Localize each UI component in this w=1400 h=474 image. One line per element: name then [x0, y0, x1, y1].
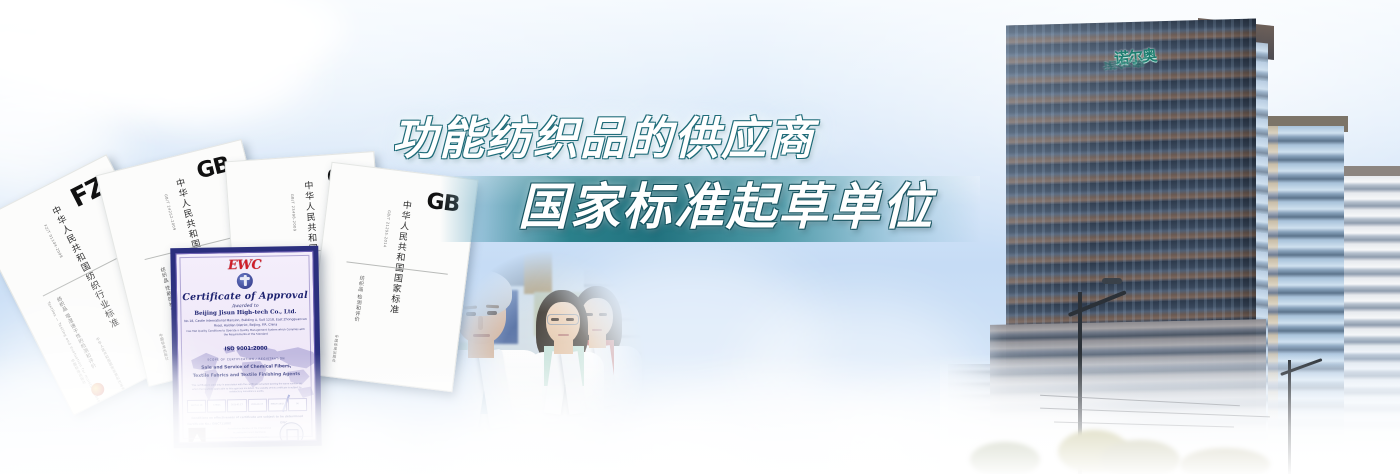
certificate-body-text: Has Met Quality Conditions to Operate a … — [186, 328, 306, 338]
document-code: GB/T 21295-2014 — [383, 210, 392, 248]
headline-band-highlight — [440, 176, 980, 206]
document-code: GB/T 24252-2009 — [164, 194, 177, 232]
document-title: 中华人民共和国国家标准 — [386, 199, 413, 315]
certificate-company-name: Beijing Jisun High-tech Co., Ltd. — [177, 309, 313, 317]
rooftop-sign-reflection: 诺尔奥 — [1102, 56, 1145, 73]
hero-banner: 诺尔奥 诺尔奥 — [0, 0, 1400, 474]
rooftop-company-sign: 诺尔奥 诺尔奥 — [1099, 37, 1172, 75]
anchor-emblem-icon — [237, 273, 253, 289]
street-lamp-head — [1102, 278, 1122, 284]
city-bottom-fade — [940, 354, 1400, 474]
certificate-address: No.18, Castle International Mansion, Bui… — [184, 317, 308, 328]
certificate-title: Certificate of Approval — [177, 290, 313, 303]
ewc-logo: EWC — [176, 257, 312, 274]
document-subject: 纺织品 检测和评价 — [353, 275, 366, 323]
document-code: GB/T 23498-2009 — [290, 194, 297, 232]
